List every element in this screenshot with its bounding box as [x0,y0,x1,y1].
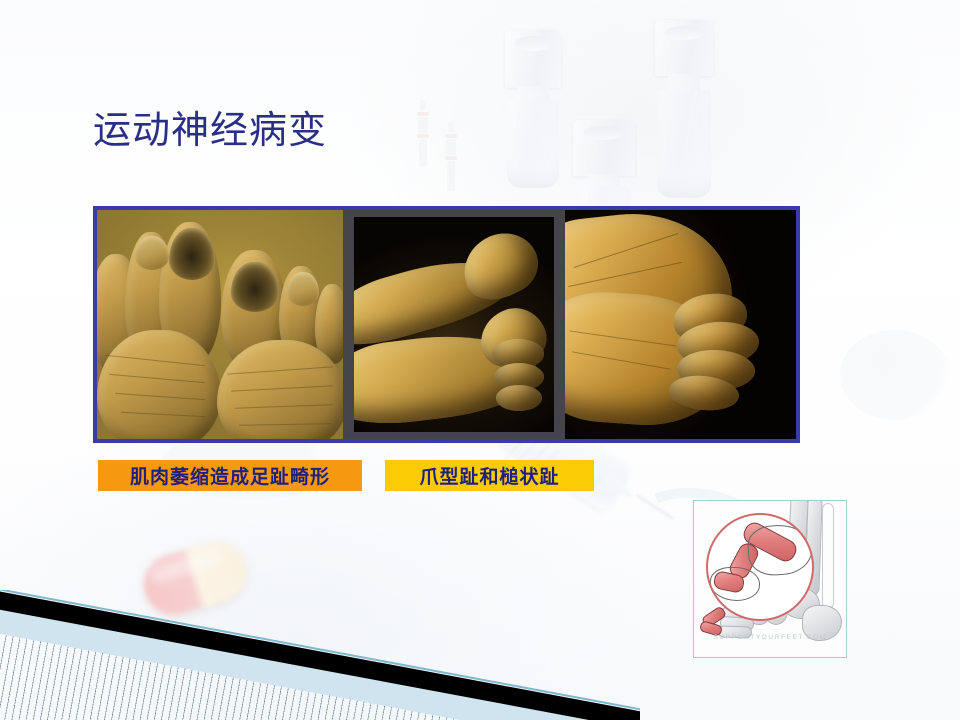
ampoule-icon [415,100,431,170]
hammer-toe-anatomy-diagram: SUPPORTYOURFEET.COM [693,500,847,658]
soft-shape [840,330,950,420]
ampoule-icon [443,122,459,194]
page-title: 运动神经病变 [93,108,327,154]
claw-feet-photo [343,210,565,439]
watermark-text: SUPPORTYOURFEET.COM [694,634,846,641]
photo-panel [93,206,800,443]
medicine-vial-icon [655,20,713,205]
toe-skin-outline [710,567,760,601]
deformed-toes-photo [97,210,343,439]
caption-muscle-atrophy: 肌肉萎缩造成足趾畸形 [98,460,362,491]
caption-claw-hammer-toe: 爪型趾和槌状趾 [385,460,594,491]
achilles-outline [822,503,834,609]
claw-toe-closeup-photo [565,210,796,439]
corner-decoration [0,590,640,720]
medicine-vial-icon [505,30,561,190]
magnifier-circle [706,513,814,621]
slide: 运动神经病变 [0,0,960,720]
